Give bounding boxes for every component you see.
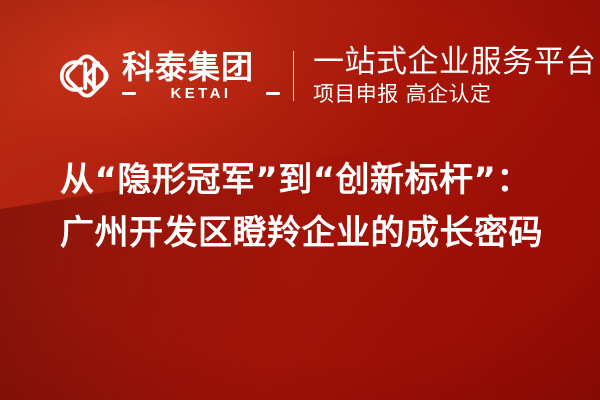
headline: 从“隐形冠军”到“创新标杆”： 广州开发区瞪羚企业的成长密码 [60, 154, 560, 260]
ketai-rhombus-kd-monogram-icon [58, 47, 116, 105]
brand-wordmark: 科泰集团 KETAI [122, 51, 280, 101]
headline-line-1: 从“隐形冠军”到“创新标杆”： [60, 154, 560, 207]
banner-header: 科泰集团 KETAI 一站式企业服务平台 项目申报 高企认定 [0, 40, 600, 112]
header-divider [293, 51, 294, 101]
promo-banner: 科泰集团 KETAI 一站式企业服务平台 项目申报 高企认定 从“隐形冠军”到“… [0, 0, 600, 400]
slogan-main: 一站式企业服务平台 [313, 45, 597, 80]
brand-name-en-row: KETAI [122, 86, 280, 101]
brand-name-cn: 科泰集团 [122, 51, 280, 85]
brand-logo[interactable]: 科泰集团 KETAI [58, 47, 280, 105]
headline-line-2: 广州开发区瞪羚企业的成长密码 [60, 207, 560, 260]
wordmark-dash-left-icon [122, 92, 136, 95]
brand-name-en: KETAI [136, 86, 266, 101]
slogan-block: 一站式企业服务平台 项目申报 高企认定 [313, 45, 597, 108]
wordmark-dash-right-icon [266, 92, 280, 95]
slogan-sub: 项目申报 高企认定 [313, 82, 597, 107]
